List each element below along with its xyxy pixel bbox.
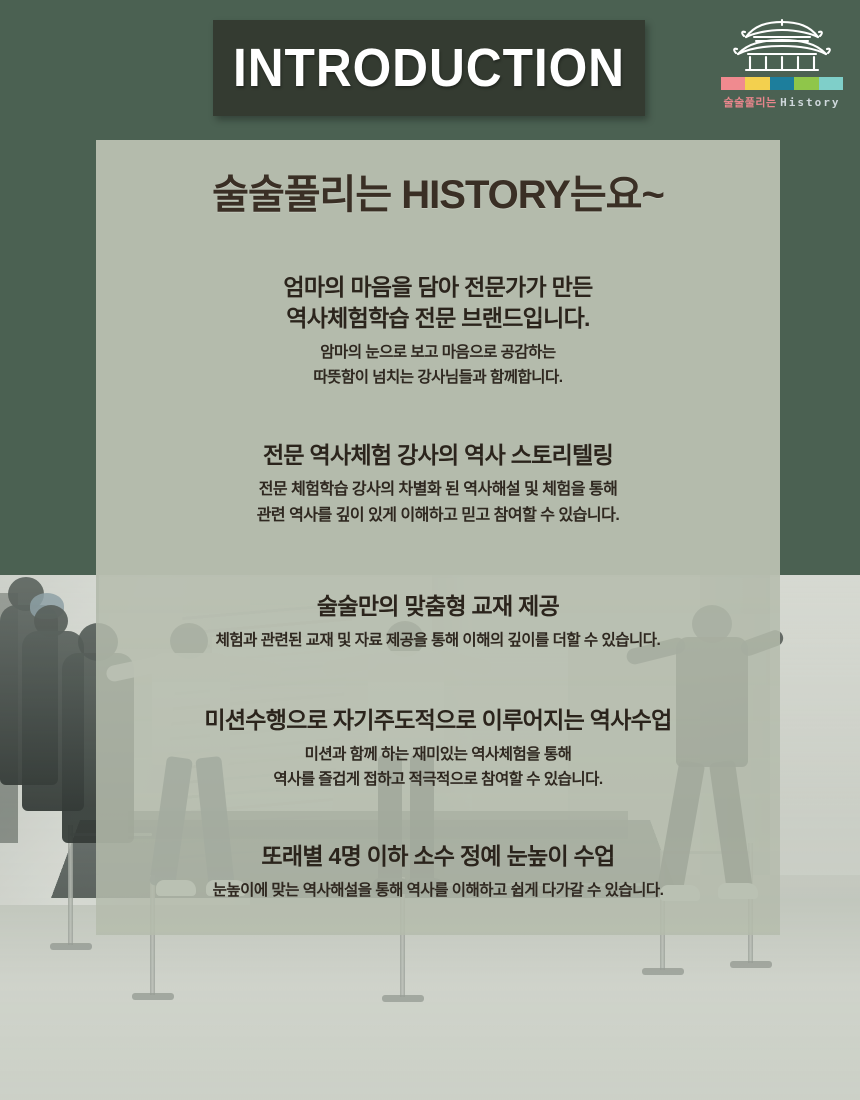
feature-title-line: 또래별 4명 이하 소수 정예 눈높이 수업 [96, 841, 780, 872]
feature-body-line: 관련 역사를 깊이 있게 이해하고 믿고 참여할 수 있습니다. [96, 503, 780, 529]
feature-body: 미션과 함께 하는 재미있는 역사체험을 통해 역사를 즐겁게 접하고 적극적으… [96, 742, 780, 792]
photo-stanchion-base [730, 961, 772, 968]
feature-body: 체험과 관련된 교재 및 자료 제공을 통해 이해의 깊이를 더할 수 있습니다… [96, 628, 780, 653]
feature-body: 전문 체험학습 강사의 차별화 된 역사해설 및 체험을 통해 관련 역사를 깊… [96, 477, 780, 529]
logo-bar-2 [745, 77, 769, 90]
logo-wordmark: 술술풀리는 History [715, 94, 849, 110]
feature-title-line: 전문 역사체험 강사의 역사 스토리텔링 [96, 440, 780, 471]
feature-body: 암마의 눈으로 보고 마음으로 공감하는 따뜻함이 넘치는 강사님들과 함께합니… [96, 340, 780, 390]
logo-english-name: History [780, 96, 840, 109]
feature-body-line: 암마의 눈으로 보고 마음으로 공감하는 [96, 340, 780, 365]
feature-body: 눈높이에 맞는 역사해설을 통해 역사를 이해하고 쉽게 다가갈 수 있습니다. [96, 878, 780, 903]
photo-stanchion-base [382, 995, 424, 1002]
feature-title: 엄마의 마음을 담아 전문가가 만든 역사체험학습 전문 브랜드입니다. [96, 272, 780, 334]
feature-title: 미션수행으로 자기주도적으로 이루어지는 역사수업 [96, 705, 780, 736]
feature-body-line: 역사를 즐겁게 접하고 적극적으로 참여할 수 있습니다. [96, 767, 780, 792]
feature-title: 또래별 4명 이하 소수 정예 눈높이 수업 [96, 841, 780, 872]
page-title: INTRODUCTION [233, 37, 625, 99]
photo-stanchion-base [642, 968, 684, 975]
feature-body-line: 전문 체험학습 강사의 차별화 된 역사해설 및 체험을 통해 [96, 477, 780, 503]
main-heading: 술술풀리는 HISTORY는요~ [96, 162, 780, 220]
feature-title-line: 엄마의 마음을 담아 전문가가 만든 [96, 272, 780, 303]
photo-stanchion-base [50, 943, 92, 950]
logo-bar-4 [794, 77, 818, 90]
feature-body-line: 체험과 관련된 교재 및 자료 제공을 통해 이해의 깊이를 더할 수 있습니다… [96, 628, 780, 653]
feature-title: 전문 역사체험 강사의 역사 스토리텔링 [96, 440, 780, 471]
feature-block: 엄마의 마음을 담아 전문가가 만든 역사체험학습 전문 브랜드입니다. 암마의… [96, 272, 780, 390]
feature-block: 술술만의 맞춤형 교재 제공 체험과 관련된 교재 및 자료 제공을 통해 이해… [96, 591, 780, 653]
logo-bar-5 [819, 77, 843, 90]
feature-title: 술술만의 맞춤형 교재 제공 [96, 591, 780, 622]
feature-title-line: 역사체험학습 전문 브랜드입니다. [96, 303, 780, 334]
photo-stanchion-base [132, 993, 174, 1000]
logo-korean-name: 술술풀리는 [723, 97, 776, 109]
hanok-building-icon [732, 16, 832, 74]
content-container: 술술풀리는 HISTORY는요~ 엄마의 마음을 담아 전문가가 만든 역사체험… [96, 140, 780, 935]
feature-body-line: 눈높이에 맞는 역사해설을 통해 역사를 이해하고 쉽게 다가갈 수 있습니다. [96, 878, 780, 903]
feature-body-line: 따뜻함이 넘치는 강사님들과 함께합니다. [96, 365, 780, 390]
feature-block: 미션수행으로 자기주도적으로 이루어지는 역사수업 미션과 함께 하는 재미있는… [96, 705, 780, 792]
logo-color-bars [721, 77, 843, 90]
logo-bar-3 [770, 77, 794, 90]
poster-root: INTRODUCTION [0, 0, 860, 1100]
introduction-banner: INTRODUCTION [213, 20, 645, 116]
feature-block: 전문 역사체험 강사의 역사 스토리텔링 전문 체험학습 강사의 차별화 된 역… [96, 440, 780, 529]
feature-title-line: 술술만의 맞춤형 교재 제공 [96, 591, 780, 622]
brand-logo: 술술풀리는 History [715, 16, 849, 116]
logo-bar-1 [721, 77, 745, 90]
photo-stanchion-post [68, 825, 73, 945]
feature-block: 또래별 4명 이하 소수 정예 눈높이 수업 눈높이에 맞는 역사해설을 통해 … [96, 841, 780, 903]
feature-title-line: 미션수행으로 자기주도적으로 이루어지는 역사수업 [96, 705, 780, 736]
feature-body-line: 미션과 함께 하는 재미있는 역사체험을 통해 [96, 742, 780, 767]
